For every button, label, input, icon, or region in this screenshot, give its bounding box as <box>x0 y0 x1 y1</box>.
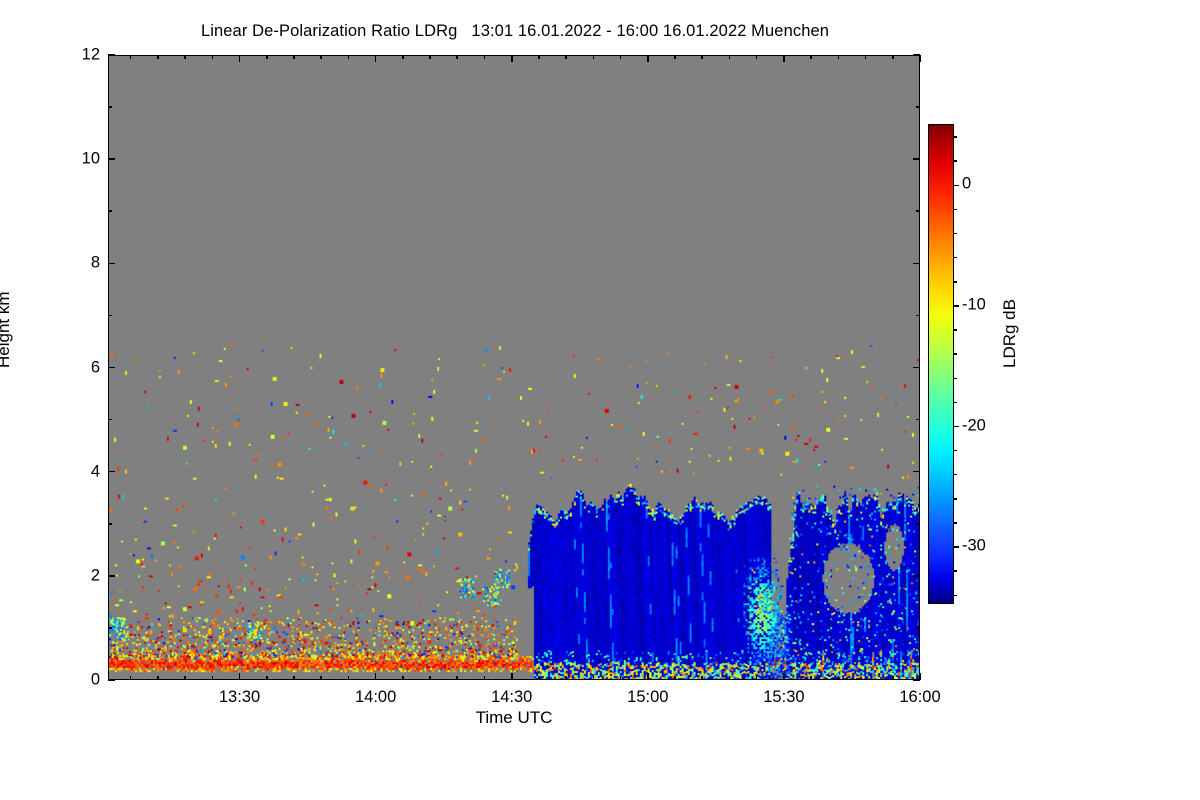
colorbar-tick <box>953 185 959 187</box>
radar-ldr-figure: Linear De-Polarization Ratio LDRg 13:01 … <box>0 0 1200 800</box>
y-axis-title: Height km <box>0 291 14 368</box>
y-axis-minor-tick <box>108 106 112 108</box>
y-axis-tick-right <box>913 367 920 369</box>
colorbar-minor-tick <box>953 474 957 476</box>
colorbar-tick <box>953 305 959 307</box>
x-axis-tick-top <box>239 55 241 62</box>
x-axis-minor-tick <box>865 676 867 680</box>
x-axis-minor-tick-top <box>293 55 295 59</box>
colorbar-minor-tick <box>953 498 957 500</box>
x-axis-minor-tick <box>402 676 404 680</box>
colorbar-tick-label: -20 <box>962 416 986 435</box>
colorbar <box>928 124 954 604</box>
x-axis-minor-tick <box>701 676 703 680</box>
x-axis-minor-tick-top <box>865 55 867 59</box>
heatmap-canvas <box>109 56 919 679</box>
x-axis-minor-tick <box>674 676 676 680</box>
y-axis-tick-right <box>913 679 920 681</box>
plot-area <box>108 55 920 680</box>
colorbar-minor-tick <box>953 209 957 211</box>
x-axis-minor-tick <box>838 676 840 680</box>
colorbar-minor-tick <box>953 570 957 572</box>
x-axis-minor-tick <box>810 676 812 680</box>
colorbar-tick <box>953 546 959 548</box>
y-axis-minor-tick <box>108 210 112 212</box>
x-axis-minor-tick-top <box>429 55 431 59</box>
y-axis-tick-label: 0 <box>70 671 100 690</box>
x-axis-tick <box>647 673 649 680</box>
y-axis-minor-tick-right <box>916 627 920 629</box>
x-axis-minor-tick-top <box>593 55 595 59</box>
colorbar-minor-tick <box>953 160 957 162</box>
x-axis-minor-tick-top <box>674 55 676 59</box>
x-axis-tick-top <box>375 55 377 62</box>
y-axis-minor-tick <box>108 419 112 421</box>
colorbar-tick-label: 0 <box>962 175 971 194</box>
x-axis-tick <box>783 673 785 680</box>
colorbar-title: LDRg dB <box>1000 299 1020 368</box>
x-axis-minor-tick <box>565 676 567 680</box>
y-axis-tick <box>108 367 115 369</box>
x-axis-minor-tick-top <box>157 55 159 59</box>
y-axis-minor-tick-right <box>916 419 920 421</box>
y-axis-tick <box>108 54 115 56</box>
y-axis-tick-label: 4 <box>70 462 100 481</box>
colorbar-minor-tick <box>953 233 957 235</box>
x-axis-minor-tick <box>266 676 268 680</box>
y-axis-minor-tick <box>108 315 112 317</box>
x-axis-tick-label: 16:00 <box>899 688 940 707</box>
x-axis-minor-tick <box>538 676 540 680</box>
x-axis-minor-tick-top <box>402 55 404 59</box>
x-axis-title: Time UTC <box>108 708 920 728</box>
colorbar-tick <box>953 426 959 428</box>
colorbar-tick-label: -10 <box>962 295 986 314</box>
y-axis-minor-tick-right <box>916 210 920 212</box>
y-axis-minor-tick-right <box>916 523 920 525</box>
x-axis-tick-label: 15:30 <box>763 688 804 707</box>
x-axis-minor-tick-top <box>538 55 540 59</box>
x-axis-minor-tick-top <box>184 55 186 59</box>
x-axis-minor-tick-top <box>729 55 731 59</box>
x-axis-minor-tick-top <box>565 55 567 59</box>
y-axis-tick-label: 2 <box>70 566 100 585</box>
x-axis-minor-tick <box>348 676 350 680</box>
x-axis-minor-tick-top <box>838 55 840 59</box>
x-axis-tick-label: 14:30 <box>491 688 532 707</box>
x-axis-minor-tick-top <box>701 55 703 59</box>
y-axis-tick-right <box>913 471 920 473</box>
y-axis-tick-label: 6 <box>70 358 100 377</box>
x-axis-tick-top <box>919 55 921 62</box>
y-axis-minor-tick-right <box>916 106 920 108</box>
x-axis-minor-tick <box>184 676 186 680</box>
x-axis-tick <box>239 673 241 680</box>
x-axis-minor-tick <box>157 676 159 680</box>
x-axis-tick-label: 14:00 <box>355 688 396 707</box>
x-axis-minor-tick <box>130 676 132 680</box>
colorbar-minor-tick <box>953 136 957 138</box>
colorbar-minor-tick <box>953 402 957 404</box>
y-axis-tick <box>108 263 115 265</box>
y-axis-tick <box>108 158 115 160</box>
x-axis-minor-tick <box>484 676 486 680</box>
x-axis-tick <box>511 673 513 680</box>
colorbar-minor-tick <box>953 257 957 259</box>
y-axis-tick <box>108 471 115 473</box>
y-axis-tick-label: 8 <box>70 254 100 273</box>
y-axis-minor-tick <box>108 627 112 629</box>
x-axis-minor-tick-top <box>456 55 458 59</box>
x-axis-minor-tick <box>620 676 622 680</box>
y-axis-tick <box>108 679 115 681</box>
colorbar-minor-tick <box>953 281 957 283</box>
colorbar-tick-label: -30 <box>962 537 986 556</box>
y-axis-tick-label: 12 <box>70 46 100 65</box>
x-axis-minor-tick <box>729 676 731 680</box>
x-axis-minor-tick-top <box>810 55 812 59</box>
x-axis-minor-tick-top <box>130 55 132 59</box>
x-axis-tick-label: 15:00 <box>627 688 668 707</box>
x-axis-minor-tick-top <box>892 55 894 59</box>
page-title: Linear De-Polarization Ratio LDRg 13:01 … <box>0 22 1030 41</box>
x-axis-minor-tick-top <box>620 55 622 59</box>
x-axis-minor-tick-top <box>756 55 758 59</box>
x-axis-minor-tick-top <box>320 55 322 59</box>
x-axis-minor-tick <box>892 676 894 680</box>
x-axis-minor-tick <box>212 676 214 680</box>
colorbar-minor-tick <box>953 450 957 452</box>
y-axis-tick <box>108 575 115 577</box>
y-axis-minor-tick-right <box>916 315 920 317</box>
colorbar-minor-tick <box>953 329 957 331</box>
y-axis-minor-tick <box>108 523 112 525</box>
x-axis-minor-tick <box>756 676 758 680</box>
colorbar-minor-tick <box>953 378 957 380</box>
x-axis-minor-tick-top <box>348 55 350 59</box>
x-axis-tick-top <box>647 55 649 62</box>
y-axis-tick-right <box>913 54 920 56</box>
x-axis-minor-tick <box>429 676 431 680</box>
x-axis-minor-tick-top <box>266 55 268 59</box>
y-axis-tick-right <box>913 575 920 577</box>
x-axis-minor-tick-top <box>484 55 486 59</box>
x-axis-tick-top <box>511 55 513 62</box>
colorbar-minor-tick <box>953 522 957 524</box>
x-axis-minor-tick-top <box>212 55 214 59</box>
colorbar-minor-tick <box>953 595 957 597</box>
y-axis-tick-right <box>913 263 920 265</box>
y-axis-tick-right <box>913 158 920 160</box>
x-axis-minor-tick <box>456 676 458 680</box>
x-axis-minor-tick <box>593 676 595 680</box>
x-axis-minor-tick <box>293 676 295 680</box>
x-axis-tick <box>375 673 377 680</box>
y-axis-tick-label: 10 <box>70 150 100 169</box>
colorbar-minor-tick <box>953 353 957 355</box>
x-axis-minor-tick <box>320 676 322 680</box>
x-axis-tick-top <box>783 55 785 62</box>
x-axis-tick-label: 13:30 <box>219 688 260 707</box>
